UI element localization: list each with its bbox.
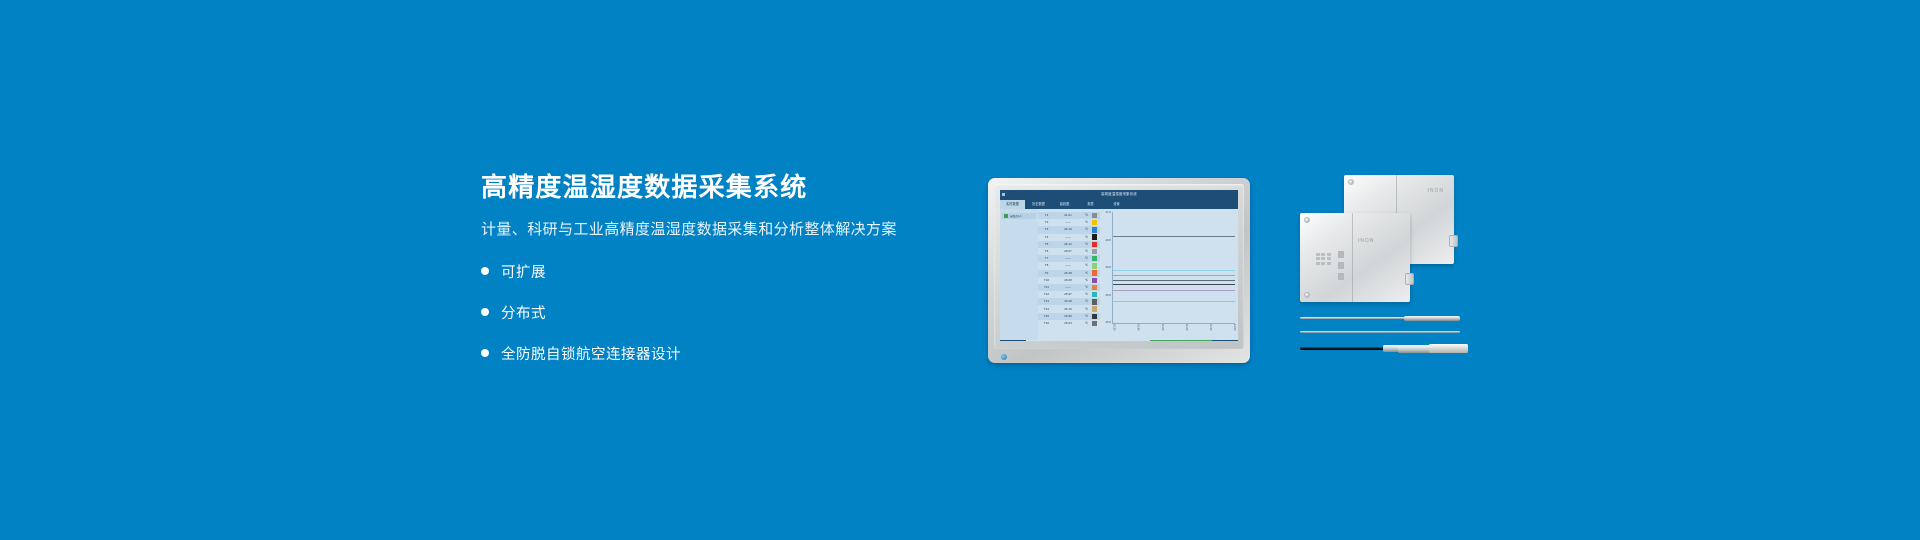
channel-unit: ℃ <box>1081 272 1092 275</box>
probe-temp-humidity <box>1300 343 1468 354</box>
channel-name: T10 <box>1038 279 1055 282</box>
y-axis-tick: 26.0 <box>1106 266 1111 269</box>
table-row[interactable]: T4——℃ <box>1038 234 1100 241</box>
channel-unit: ℃ <box>1081 322 1092 325</box>
tab-report[interactable]: 报表 <box>1078 200 1103 209</box>
acquisition-unit-front: INON <box>1300 213 1410 302</box>
device-status-icon <box>1004 214 1008 218</box>
connector-icon <box>1405 273 1414 285</box>
list-item: 可扩展 <box>481 261 1001 282</box>
channel-name: T8 <box>1038 264 1055 267</box>
feature-label: 分布式 <box>501 302 546 323</box>
channel-value: —— <box>1055 264 1081 267</box>
channel-color-swatch <box>1092 299 1097 304</box>
terminal-block-icon <box>1316 253 1331 265</box>
port-icon <box>1338 273 1344 280</box>
tab-realtime[interactable]: 实时数据 <box>1000 200 1025 209</box>
y-axis-tick: 25.5 <box>1106 294 1111 297</box>
x-axis-tick: 12:00 <box>1232 324 1235 339</box>
footer-spacer <box>1026 340 1150 341</box>
chart-series-line <box>1113 284 1235 285</box>
channel-unit: ℃ <box>1081 214 1092 217</box>
channel-value: 25.94 <box>1055 322 1081 325</box>
table-row[interactable]: T8——℃ <box>1038 262 1100 269</box>
chart-series-line <box>1113 275 1235 276</box>
panel-seam <box>1352 213 1353 302</box>
channel-color-swatch <box>1092 285 1097 290</box>
terminal-cell <box>1327 262 1331 265</box>
channel-unit: ℃ <box>1081 300 1092 303</box>
monitor-screen: 高精度温湿度采集系统 实时数据 历史数据 曲线图 报表 设置 采集仪-1 T12… <box>1000 190 1238 341</box>
channel-color-swatch <box>1092 249 1097 254</box>
x-axis-tick: 10:40 <box>1136 324 1139 339</box>
channel-name: T11 <box>1038 286 1055 289</box>
chart-series-line <box>1113 270 1235 271</box>
channel-table: T121.01℃T2——℃T326.19℃T4——℃T526.12℃T626.0… <box>1038 209 1100 340</box>
probe-sensor-filter <box>1429 344 1468 353</box>
channel-color-swatch <box>1092 263 1097 268</box>
trend-chart: 27.026.526.025.525.0 10:2010:4011:0011:2… <box>1100 209 1238 340</box>
tab-history[interactable]: 历史数据 <box>1026 200 1051 209</box>
table-row[interactable]: T121.01℃ <box>1038 212 1100 219</box>
connector-icon <box>1449 235 1458 247</box>
channel-name: T6 <box>1038 250 1055 253</box>
brand-label: INON <box>1428 189 1445 194</box>
channel-color-swatch <box>1092 270 1097 275</box>
chart-series-line <box>1113 290 1235 291</box>
brand-label: INON <box>1358 239 1375 244</box>
app-tab-bar: 实时数据 历史数据 曲线图 报表 设置 <box>1000 200 1238 209</box>
channel-unit: ℃ <box>1081 257 1092 260</box>
channel-name: T7 <box>1038 257 1055 260</box>
tab-settings[interactable]: 设置 <box>1104 200 1129 209</box>
chart-x-axis: 10:2010:4011:0011:2011:4012:00 <box>1112 324 1235 339</box>
channel-value: 26.08 <box>1055 279 1081 282</box>
save-settings-button[interactable]: 保存设置 <box>1181 340 1212 341</box>
channel-value: —— <box>1055 257 1081 260</box>
list-item: 全防脱自锁航空连接器设计 <box>481 343 1001 364</box>
probe-stainless <box>1300 315 1460 321</box>
channel-value: 26.12 <box>1055 243 1081 246</box>
device-tree-panel: 采集仪-1 <box>1000 209 1038 340</box>
tree-node-device[interactable]: 采集仪-1 <box>1002 213 1036 219</box>
channel-unit: ℃ <box>1081 293 1092 296</box>
x-axis-tick: 10:20 <box>1112 324 1115 339</box>
channel-color-swatch <box>1092 256 1097 261</box>
channel-name: T3 <box>1038 228 1055 231</box>
chart-series-line <box>1113 301 1235 302</box>
table-row[interactable]: T1326.28℃ <box>1038 298 1100 305</box>
bullet-dot-icon <box>481 267 489 275</box>
terminal-cell <box>1316 262 1320 265</box>
channel-unit: ℃ <box>1081 221 1092 224</box>
monitor-power-indicator <box>1001 354 1007 360</box>
screw-icon <box>1348 179 1354 185</box>
table-row[interactable]: T2——℃ <box>1038 219 1100 226</box>
feature-label: 全防脱自锁航空连接器设计 <box>501 343 681 364</box>
chart-series-line <box>1113 280 1235 281</box>
port-icon <box>1338 251 1344 258</box>
channel-name: T2 <box>1038 221 1055 224</box>
y-axis-tick: 25.0 <box>1106 321 1111 324</box>
port-group-icon <box>1338 251 1344 280</box>
table-row[interactable]: T526.12℃ <box>1038 241 1100 248</box>
x-axis-tick: 11:00 <box>1160 324 1163 339</box>
channel-name: T14 <box>1038 308 1055 311</box>
channel-name: T12 <box>1038 293 1055 296</box>
terminal-cell <box>1316 257 1320 260</box>
channel-unit: ℃ <box>1081 243 1092 246</box>
channel-value: —— <box>1055 236 1081 239</box>
feature-label: 可扩展 <box>501 261 546 282</box>
channel-unit: ℃ <box>1081 228 1092 231</box>
tree-node-label: 采集仪-1 <box>1010 215 1022 218</box>
y-axis-tick: 27.0 <box>1106 211 1111 214</box>
channel-unit: ℃ <box>1081 236 1092 239</box>
table-row[interactable]: T1426.15℃ <box>1038 305 1100 312</box>
table-row[interactable]: T926.38℃ <box>1038 270 1100 277</box>
table-row[interactable]: T11——℃ <box>1038 284 1100 291</box>
table-row[interactable]: T626.07℃ <box>1038 248 1100 255</box>
terminal-cell <box>1327 253 1331 256</box>
channel-value: 26.38 <box>1055 272 1081 275</box>
channel-unit: ℃ <box>1081 264 1092 267</box>
terminal-cell <box>1316 253 1320 256</box>
screw-icon <box>1304 292 1310 298</box>
probe-cable <box>1300 331 1460 333</box>
terminal-cell <box>1321 253 1325 256</box>
channel-value: 26.28 <box>1055 300 1081 303</box>
channel-unit: ℃ <box>1081 250 1092 253</box>
export-data-button[interactable]: 导出数据 <box>1150 340 1181 341</box>
channel-unit: ℃ <box>1081 279 1092 282</box>
channel-unit: ℃ <box>1081 308 1092 311</box>
x-axis-tick: 11:40 <box>1208 324 1211 339</box>
probe-thin-wire <box>1300 330 1460 334</box>
copy-block: 高精度温湿度数据采集系统 计量、科研与工业高精度温湿度数据采集和分析整体解决方案… <box>481 173 1001 384</box>
channel-color-swatch <box>1092 278 1097 283</box>
channel-value: 26.90 <box>1055 315 1081 318</box>
channel-value: 26.19 <box>1055 228 1081 231</box>
channel-name: T13 <box>1038 300 1055 303</box>
app-title-bar: 高精度温湿度采集系统 <box>1000 190 1238 200</box>
channel-unit: ℃ <box>1081 286 1092 289</box>
bullet-dot-icon <box>481 308 489 316</box>
channel-value: —— <box>1055 221 1081 224</box>
channel-name: T16 <box>1038 322 1055 325</box>
table-row[interactable]: T1625.94℃ <box>1038 320 1100 327</box>
feature-list: 可扩展 分布式 全防脱自锁航空连接器设计 <box>481 261 1001 364</box>
probe-cable <box>1300 347 1386 350</box>
channel-color-swatch <box>1092 242 1097 247</box>
screw-icon <box>1304 217 1310 223</box>
channel-color-swatch <box>1092 220 1097 225</box>
channel-color-swatch <box>1092 234 1097 239</box>
table-row[interactable]: T1225.97℃ <box>1038 291 1100 298</box>
x-axis-tick: 11:20 <box>1184 324 1187 339</box>
product-monitor: 高精度温湿度采集系统 实时数据 历史数据 曲线图 报表 设置 采集仪-1 T12… <box>988 178 1250 363</box>
channel-value: —— <box>1055 286 1081 289</box>
app-system-icon <box>1002 193 1005 196</box>
y-axis-tick: 26.5 <box>1106 239 1111 242</box>
list-item: 分布式 <box>481 302 1001 323</box>
page-subtitle: 计量、科研与工业高精度温湿度数据采集和分析整体解决方案 <box>481 218 1001 239</box>
tab-curve[interactable]: 曲线图 <box>1052 200 1077 209</box>
port-icon <box>1338 262 1344 269</box>
channel-value: 26.15 <box>1055 308 1081 311</box>
channel-color-swatch <box>1092 227 1097 232</box>
exit-button[interactable]: 退出 <box>1212 340 1238 341</box>
probe-tip <box>1404 316 1460 321</box>
table-row[interactable]: T1526.90℃ <box>1038 313 1100 320</box>
start-button[interactable]: 开始 <box>1000 340 1026 341</box>
table-row[interactable]: T7——℃ <box>1038 255 1100 262</box>
channel-name: T1 <box>1038 214 1055 217</box>
channel-color-swatch <box>1092 321 1097 326</box>
channel-name: T15 <box>1038 315 1055 318</box>
page-title: 高精度温湿度数据采集系统 <box>481 173 1001 202</box>
app-footer-bar: 开始 导出数据 保存设置 退出 <box>1000 340 1238 341</box>
terminal-cell <box>1327 257 1331 260</box>
table-row[interactable]: T326.19℃ <box>1038 226 1100 233</box>
chart-plot-area <box>1112 212 1235 324</box>
channel-unit: ℃ <box>1081 315 1092 318</box>
channel-color-swatch <box>1092 306 1097 311</box>
channel-color-swatch <box>1092 213 1097 218</box>
app-title: 高精度温湿度采集系统 <box>1101 193 1137 196</box>
chart-series-line <box>1113 236 1235 237</box>
channel-value: 21.01 <box>1055 214 1081 217</box>
promo-banner: 高精度温湿度数据采集系统 计量、科研与工业高精度温湿度数据采集和分析整体解决方案… <box>0 0 1920 540</box>
channel-name: T9 <box>1038 272 1055 275</box>
probe-body <box>1398 345 1430 353</box>
product-hardware: INON INON <box>1300 175 1480 375</box>
bullet-dot-icon <box>481 349 489 357</box>
probe-cable <box>1300 317 1410 319</box>
table-row[interactable]: T1026.08℃ <box>1038 277 1100 284</box>
terminal-cell <box>1321 257 1325 260</box>
app-body: 采集仪-1 T121.01℃T2——℃T326.19℃T4——℃T526.12℃… <box>1000 209 1238 340</box>
chart-y-axis: 27.026.526.025.525.0 <box>1101 211 1111 324</box>
channel-color-swatch <box>1092 314 1097 319</box>
channel-color-swatch <box>1092 292 1097 297</box>
terminal-cell <box>1321 262 1325 265</box>
channel-value: 25.97 <box>1055 293 1081 296</box>
probe-ferrule <box>1383 345 1399 351</box>
channel-name: T5 <box>1038 243 1055 246</box>
channel-value: 26.07 <box>1055 250 1081 253</box>
channel-name: T4 <box>1038 236 1055 239</box>
